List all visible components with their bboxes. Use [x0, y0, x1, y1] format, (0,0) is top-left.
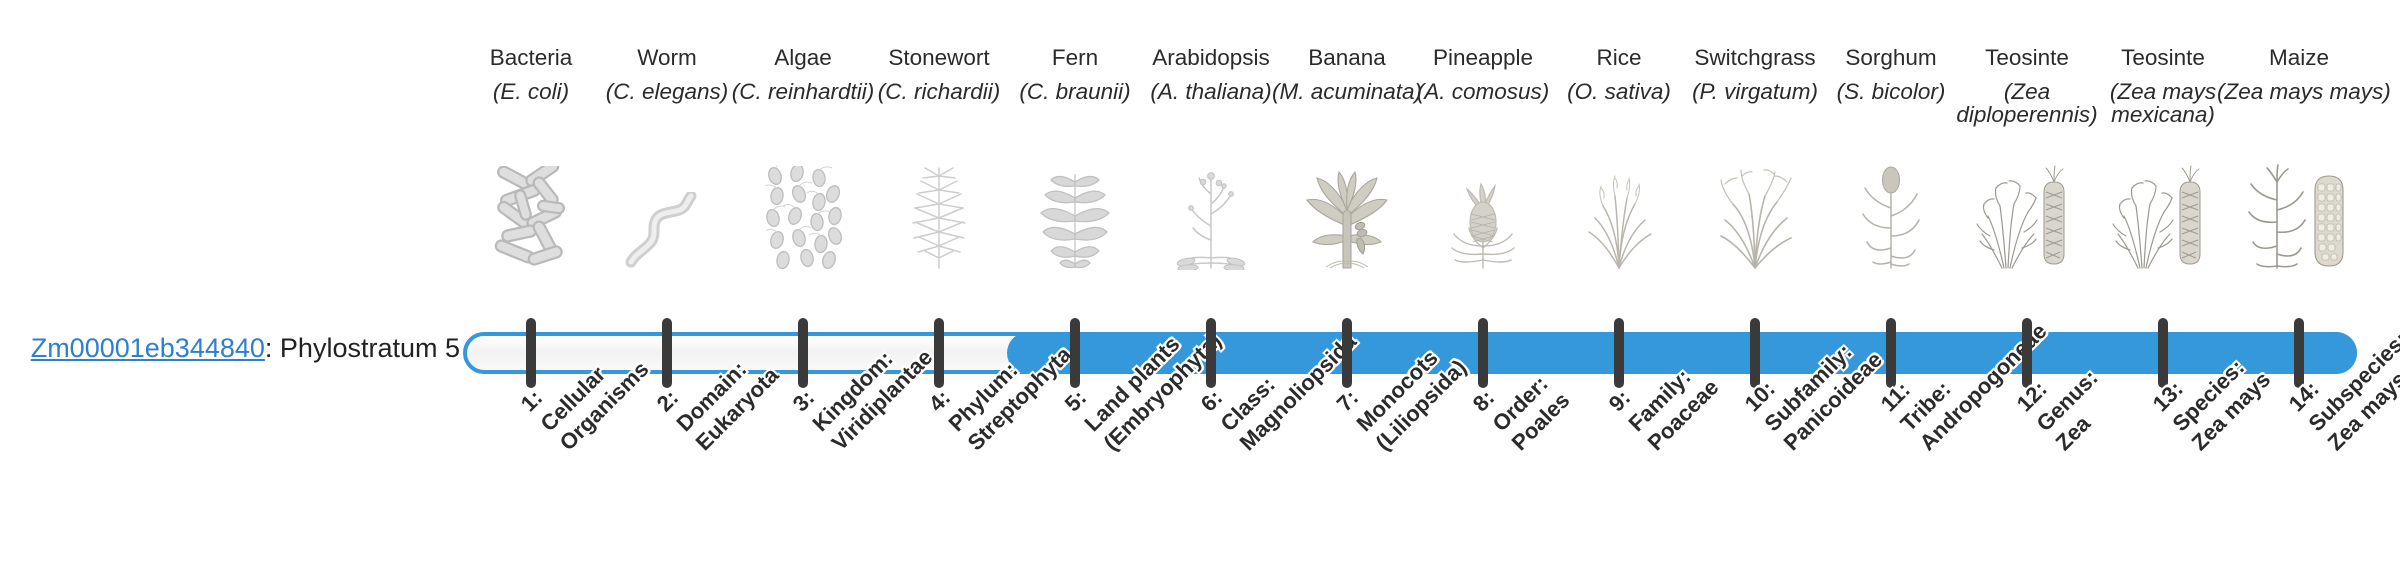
bacteria-rods-icon	[463, 160, 599, 270]
teosinte-plant-and-ear-icon	[2095, 160, 2231, 270]
green-algae-cells-icon	[735, 160, 871, 270]
tick-mark-1[interactable]	[526, 318, 536, 388]
tick-mark-8[interactable]	[1478, 318, 1488, 388]
gene-phylostratum-label: Zm00001eb344840: Phylostratum 5	[0, 332, 460, 364]
tick-mark-5[interactable]	[1070, 318, 1080, 388]
species-column-4: Stonewort(C. richardii) 4: Phylum: Strep…	[871, 0, 1007, 580]
tick-mark-9[interactable]	[1614, 318, 1624, 388]
species-common-name: Maize	[2217, 46, 2381, 70]
species-column-3: Algae(C. reinhardtii)	[735, 0, 871, 580]
switchgrass-plant-icon	[1687, 160, 1823, 270]
species-column-5: Fern(C. braunii) 5: Land plants (Embryop…	[1007, 0, 1143, 580]
sorghum-plant-icon	[1823, 160, 1959, 270]
species-column-11: Sorghum(S. bicolor) 11: Tribe: Andropogo…	[1823, 0, 1959, 580]
phylostratum-value: Phylostratum 5	[280, 333, 460, 363]
banana-plant-icon	[1279, 160, 1415, 270]
species-column-12: Teosinte(Zea diploperennis) 12: Genus: Z…	[1959, 0, 2095, 580]
species-track: Bacteria(E. coli) 1: Cellular OrganismsW…	[463, 0, 2400, 580]
tick-mark-11[interactable]	[1886, 318, 1896, 388]
tick-mark-2[interactable]	[662, 318, 672, 388]
tick-mark-10[interactable]	[1750, 318, 1760, 388]
tick-mark-7[interactable]	[1342, 318, 1352, 388]
tick-mark-12[interactable]	[2022, 318, 2032, 388]
nematode-worm-icon	[599, 160, 735, 270]
pineapple-plant-icon	[1415, 160, 1551, 270]
species-scientific-name: (Zea mays mays)	[2217, 80, 2381, 104]
tick-mark-4[interactable]	[934, 318, 944, 388]
species-column-6: Arabidopsis(A. thaliana) 6: Class: Mag	[1143, 0, 1279, 580]
species-column-7: Banana(M. acuminata) 7: Monocots (Liliop…	[1279, 0, 1415, 580]
phylostratum-figure: Zm00001eb344840: Phylostratum 5 Bacteria…	[0, 0, 2400, 580]
tick-mark-13[interactable]	[2158, 318, 2168, 388]
gene-label-separator: :	[265, 333, 280, 363]
species-column-10: Switchgrass(P. virgatum) 10: Subfamily: …	[1687, 0, 1823, 580]
arabidopsis-rosette-icon	[1143, 160, 1279, 270]
species-column-8: Pineapple(A. comosus) 8: Order: Poales	[1415, 0, 1551, 580]
species-header-14: Maize(Zea mays mays)	[2217, 46, 2381, 103]
stonewort-alga-icon	[871, 160, 1007, 270]
maize-plant-and-cob-icon	[2231, 160, 2367, 270]
teosinte-plant-and-ear-icon	[1959, 160, 2095, 270]
fern-frond-icon	[1007, 160, 1143, 270]
tick-mark-3[interactable]	[798, 318, 808, 388]
species-column-14: Maize(Zea mays mays) 14:	[2231, 0, 2367, 580]
tick-mark-6[interactable]	[1206, 318, 1216, 388]
gene-id-link[interactable]: Zm00001eb344840	[31, 333, 265, 363]
tick-mark-14[interactable]	[2294, 318, 2304, 388]
species-column-1: Bacteria(E. coli) 1: Cellular Organisms	[463, 0, 599, 580]
species-column-9: Rice(O. sativa) 9: Family: Poaceae	[1551, 0, 1687, 580]
species-column-2: Worm(C. elegans) 2: Domain: Eukaryota	[599, 0, 735, 580]
species-column-13: Teosinte(Zea mays mexicana) 13: Species:…	[2095, 0, 2231, 580]
rice-plant-icon	[1551, 160, 1687, 270]
